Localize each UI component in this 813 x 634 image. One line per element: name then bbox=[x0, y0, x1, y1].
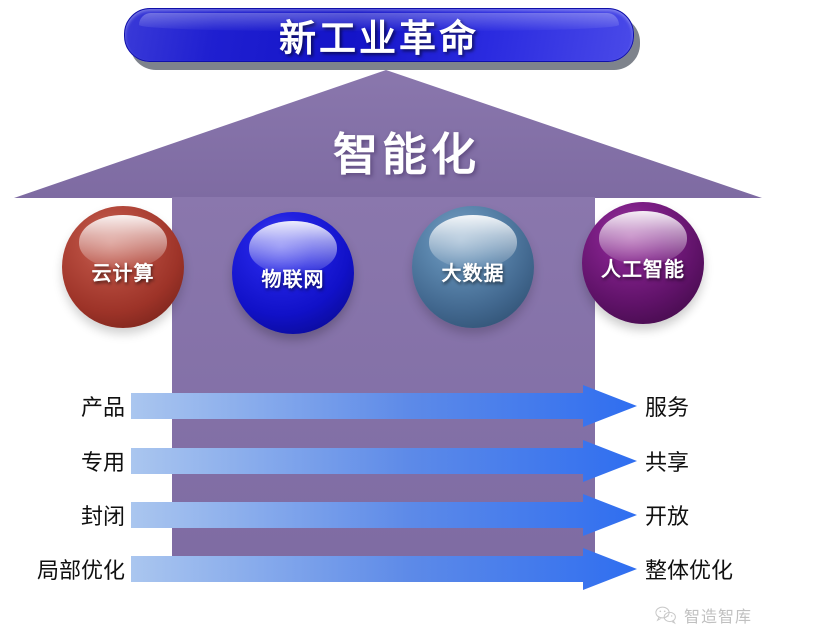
transition-from-label: 产品 bbox=[81, 390, 125, 422]
transition-row-4: 局部优化 整体优化 bbox=[0, 548, 813, 590]
roof-polygon bbox=[14, 70, 762, 198]
transition-from-label: 专用 bbox=[81, 445, 125, 477]
transition-row-2: 专用 共享 bbox=[0, 440, 813, 482]
pillar-internet-of-things[interactable]: 物联网 bbox=[232, 212, 354, 334]
pillar-label: 云计算 bbox=[92, 257, 155, 286]
transition-to-label: 整体优化 bbox=[645, 553, 733, 585]
transition-from-label: 局部优化 bbox=[37, 553, 125, 585]
transition-arrow-icon bbox=[131, 548, 637, 590]
wechat-icon bbox=[655, 606, 677, 625]
page-title: 新工业革命 bbox=[279, 8, 479, 62]
transition-arrow-icon bbox=[131, 440, 637, 482]
pillar-label: 人工智能 bbox=[601, 253, 685, 282]
pillar-artificial-intelligence[interactable]: 人工智能 bbox=[582, 202, 704, 324]
watermark-text: 智造智库 bbox=[684, 603, 752, 627]
infographic-canvas: 新工业革命 智能化 云计算 物联网 大数据 人工智能 bbox=[0, 0, 813, 634]
transition-row-3: 封闭 开放 bbox=[0, 494, 813, 536]
transition-row-1: 产品 服务 bbox=[0, 385, 813, 427]
pillar-label: 物联网 bbox=[262, 263, 325, 292]
transition-arrow-icon bbox=[131, 385, 637, 427]
transition-to-label: 共享 bbox=[645, 445, 689, 477]
pillar-big-data[interactable]: 大数据 bbox=[412, 206, 534, 328]
transition-to-label: 开放 bbox=[645, 499, 689, 531]
transition-from-label: 封闭 bbox=[81, 499, 125, 531]
title-banner: 新工业革命 bbox=[124, 8, 634, 62]
watermark: 智造智库 bbox=[655, 603, 752, 627]
transition-to-label: 服务 bbox=[645, 390, 689, 422]
pillar-label: 大数据 bbox=[442, 257, 505, 286]
transition-arrow-icon bbox=[131, 494, 637, 536]
pillar-cloud-computing[interactable]: 云计算 bbox=[62, 206, 184, 328]
